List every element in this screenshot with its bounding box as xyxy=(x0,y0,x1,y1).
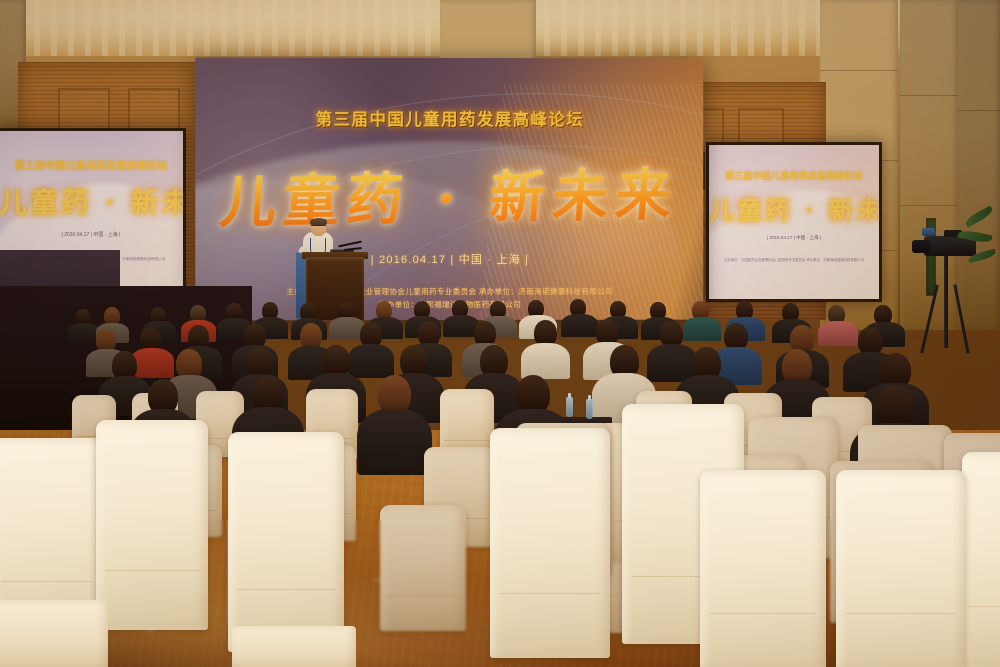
backdrop-title: 第三届中国儿童用药发展高峰论坛 xyxy=(195,106,703,130)
left-screen-date: | 2016.04.17 | 中国 · 上海 | xyxy=(0,231,183,238)
camera-monitor xyxy=(922,228,935,236)
water-bottle xyxy=(566,397,573,417)
audience-shoulders xyxy=(521,343,570,379)
right-screen-credits: 主办单位：中国医药企业管理协会儿童用药专业委员会 承办单位：济南海诺健康科技有限… xyxy=(719,257,869,262)
chair-cover-foreground xyxy=(700,470,826,667)
left-screen-headline: 儿童药 · 新未来 xyxy=(0,181,183,221)
chair-cover xyxy=(380,505,466,631)
water-bottle xyxy=(586,399,593,419)
chair-cover-foreground xyxy=(836,470,966,667)
right-screen-headline: 儿童药 · 新未来 xyxy=(709,191,879,227)
left-screen-title: 第三届中国儿童用药发展高峰论坛 xyxy=(0,157,183,172)
speaker-glasses xyxy=(311,225,326,228)
right-screen-date: | 2016.04.17 | 中国 · 上海 | xyxy=(709,235,879,241)
chair-cover-foreground xyxy=(96,420,208,630)
chair-cover-foreground xyxy=(962,452,1000,667)
chair-seat xyxy=(0,600,108,667)
audience-shoulders xyxy=(357,409,432,475)
chair-cover-foreground xyxy=(490,428,610,658)
camera-lens xyxy=(912,240,930,253)
right-screen-title: 第三届中国儿童用药发展高峰论坛 xyxy=(709,169,879,182)
chair-seat xyxy=(232,626,356,667)
speaker-hair xyxy=(310,218,327,225)
backdrop-headline: 儿童药 · 新未来 xyxy=(195,150,703,240)
audience-shoulders xyxy=(683,317,721,341)
audience-shoulders xyxy=(818,321,858,346)
audience-shoulders xyxy=(561,314,598,337)
audience-shoulders xyxy=(348,344,394,378)
conference-hall-photo: 第三届中国儿童用药发展高峰论坛 儿童药 · 新未来 | 2016.04.17 |… xyxy=(0,0,1000,667)
chair-cover-foreground xyxy=(228,432,344,652)
backdrop-date-line: | 2016.04.17 | 中国 · 上海 | xyxy=(195,251,703,267)
